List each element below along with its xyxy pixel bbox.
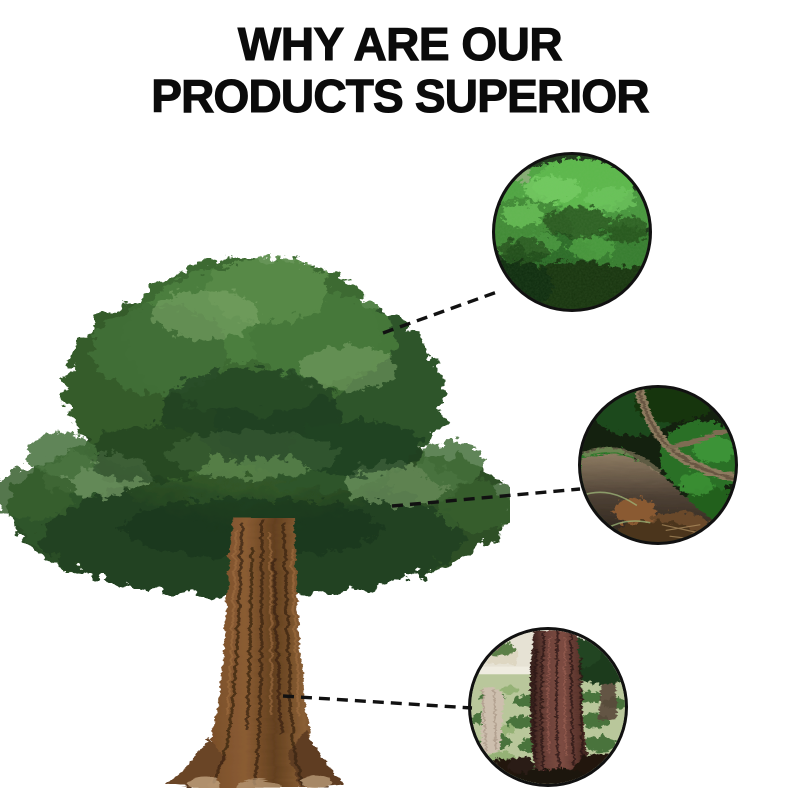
product-tree-image <box>0 218 510 788</box>
page-title-line-2: PRODUCTS SUPERIOR <box>0 70 800 122</box>
callout-circle-branch[interactable] <box>578 385 738 545</box>
callout-circle-foliage[interactable] <box>492 152 652 312</box>
promo-graphic: WHY ARE OUR PRODUCTS SUPERIOR <box>0 0 800 800</box>
foliage-detail-art <box>495 155 649 309</box>
branch-detail-photo <box>581 388 735 542</box>
tree-graphic <box>0 218 510 788</box>
page-title: WHY ARE OUR PRODUCTS SUPERIOR <box>0 18 800 122</box>
branch-detail-art <box>581 388 735 542</box>
page-title-line-1: WHY ARE OUR <box>0 18 800 70</box>
foliage-detail-photo <box>495 155 649 309</box>
trunk-detail-art <box>471 630 625 784</box>
callout-circle-trunk[interactable] <box>468 627 628 787</box>
trunk-detail-photo <box>471 630 625 784</box>
